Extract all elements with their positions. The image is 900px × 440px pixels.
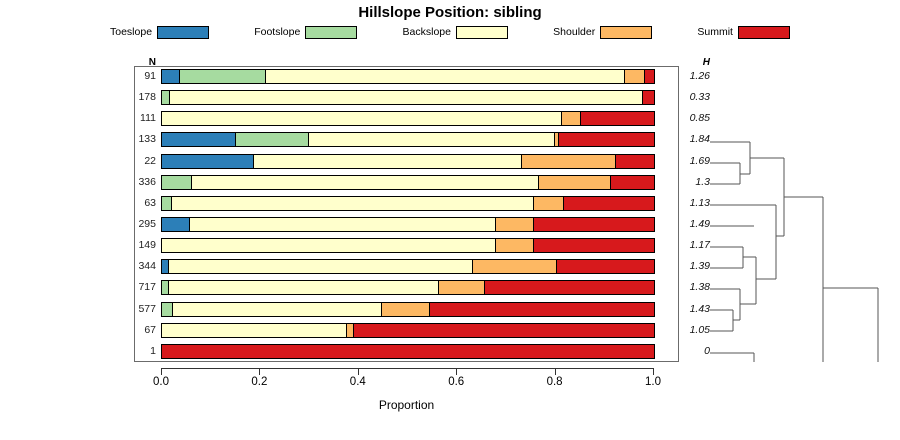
n-value: 577 (108, 299, 156, 320)
bar-segment-shoulder (521, 155, 614, 168)
n-value: 22 (108, 151, 156, 172)
x-tick (161, 368, 162, 375)
bar-row: FIVEBIT1110.85 (134, 108, 679, 129)
bar-segment-toeslope (162, 133, 235, 146)
x-axis-title: Proportion (134, 398, 679, 412)
bar-segment-backslope (168, 260, 472, 273)
legend-swatch-summit (738, 26, 790, 39)
bar-segment-footslope (162, 197, 171, 210)
bar-segment-toeslope (162, 218, 189, 231)
bar-segment-summit (353, 324, 654, 337)
legend-swatch-shoulder (600, 26, 652, 39)
bar-row: MELHORN911.26NH (134, 66, 679, 87)
bar-segment-backslope (253, 155, 521, 168)
bar-segment-summit (610, 176, 654, 189)
bar-row: PARSNIP671.05 (134, 320, 679, 341)
stacked-bar (161, 132, 655, 147)
bar-segment-summit (533, 218, 654, 231)
bar-rows-container: MELHORN911.26NHKLICKSON1780.33FIVEBIT111… (134, 66, 679, 362)
bar-segment-shoulder (346, 324, 353, 337)
x-tick (456, 368, 457, 375)
stacked-bar (161, 302, 655, 317)
bar-segment-summit (533, 239, 654, 252)
bar-segment-summit (556, 260, 654, 273)
legend-item-summit: Summit (697, 26, 790, 39)
x-tick (653, 368, 654, 375)
n-column-header: N (108, 57, 156, 68)
bar-segment-backslope (308, 133, 554, 146)
legend-swatch-backslope (456, 26, 508, 39)
stacked-bar (161, 154, 655, 169)
n-value: 717 (108, 277, 156, 298)
bar-segment-footslope (162, 176, 191, 189)
legend-swatch-toeslope (157, 26, 209, 39)
n-value: 344 (108, 256, 156, 277)
bar-segment-backslope (169, 91, 641, 104)
bar-segment-footslope (179, 70, 265, 83)
bar-segment-shoulder (495, 239, 533, 252)
bar-segment-footslope (235, 133, 308, 146)
n-value: 178 (108, 87, 156, 108)
x-tick-label: 0.2 (239, 376, 279, 388)
stacked-bar (161, 69, 655, 84)
bar-segment-summit (484, 281, 654, 294)
bar-segment-shoulder (624, 70, 644, 83)
bar-segment-shoulder (533, 197, 563, 210)
legend-item-footslope: Footslope (254, 26, 357, 39)
x-tick-label: 1.0 (633, 376, 673, 388)
legend: Toeslope Footslope Backslope Shoulder Su… (110, 24, 790, 40)
stacked-bar (161, 175, 655, 190)
bar-segment-backslope (172, 303, 381, 316)
n-value: 111 (108, 108, 156, 129)
legend-label-toeslope: Toeslope (110, 26, 152, 38)
bar-segment-shoulder (472, 260, 556, 273)
bar-segment-backslope (191, 176, 539, 189)
bar-segment-footslope (162, 303, 172, 316)
dendrogram (688, 66, 893, 362)
bar-segment-summit (644, 70, 654, 83)
legend-swatch-footslope (305, 26, 357, 39)
bar-row: BOCKER5771.43 (134, 299, 679, 320)
x-tick-label: 0.4 (338, 376, 378, 388)
n-value: 149 (108, 235, 156, 256)
stacked-bar (161, 238, 655, 253)
legend-label-shoulder: Shoulder (553, 26, 595, 38)
legend-item-toeslope: Toeslope (110, 26, 209, 39)
n-value: 67 (108, 320, 156, 341)
legend-label-footslope: Footslope (254, 26, 300, 38)
bar-segment-backslope (162, 324, 346, 337)
bar-segment-toeslope (162, 155, 253, 168)
dendrogram-svg (688, 66, 893, 362)
bar-segment-summit (558, 133, 654, 146)
bar-segment-shoulder (538, 176, 609, 189)
bar-segment-backslope (168, 281, 437, 294)
x-tick-label: 0.6 (436, 376, 476, 388)
x-tick-label: 0.0 (141, 376, 181, 388)
stacked-bar (161, 323, 655, 338)
bar-segment-summit (642, 91, 654, 104)
n-value: 295 (108, 214, 156, 235)
bar-segment-shoulder (495, 218, 533, 231)
bar-row: FIVEBEAVER3441.39 (134, 256, 679, 277)
bar-segment-backslope (171, 197, 534, 210)
stacked-bar (161, 196, 655, 211)
stacked-bar (161, 280, 655, 295)
bar-segment-summit (429, 303, 654, 316)
bar-row: NIBOLOB221.69 (134, 151, 679, 172)
x-tick-label: 0.8 (535, 376, 575, 388)
bar-segment-shoulder (381, 303, 429, 316)
bar-segment-summit (615, 155, 654, 168)
x-tick (555, 368, 556, 375)
x-tick (358, 368, 359, 375)
n-value: 1 (108, 341, 156, 362)
bar-segment-backslope (265, 70, 624, 83)
stacked-bar (161, 90, 655, 105)
bar-segment-backslope (162, 239, 495, 252)
bar-row: BOLOBIN631.13 (134, 193, 679, 214)
bar-segment-shoulder (561, 112, 581, 125)
x-axis-line (161, 368, 653, 369)
n-value: 336 (108, 172, 156, 193)
bar-segment-footslope (162, 91, 169, 104)
bar-row: TOLO1331.84 (134, 129, 679, 150)
bar-segment-summit (563, 197, 654, 210)
bar-row: KLICKER3361.3 (134, 172, 679, 193)
bar-row: KLICKSON1780.33 (134, 87, 679, 108)
stacked-bar (161, 217, 655, 232)
bar-segment-summit (162, 345, 654, 358)
bar-segment-toeslope (162, 70, 179, 83)
stacked-bar (161, 259, 655, 274)
bar-segment-backslope (162, 112, 561, 125)
stacked-bar (161, 111, 655, 126)
x-axis: 0.00.20.40.60.81.0 (134, 362, 679, 402)
bar-segment-summit (580, 112, 654, 125)
bar-segment-backslope (189, 218, 495, 231)
legend-label-backslope: Backslope (403, 26, 451, 38)
bar-row: OLOT1491.17 (134, 235, 679, 256)
bar-segment-shoulder (438, 281, 485, 294)
legend-label-summit: Summit (697, 26, 733, 38)
legend-item-backslope: Backslope (403, 26, 508, 39)
bar-row: ANATONE7171.38 (134, 277, 679, 298)
x-tick (259, 368, 260, 375)
bar-row: LARABEE2951.49 (134, 214, 679, 235)
n-value: 91 (108, 66, 156, 87)
bar-row: TOVAME10 (134, 341, 679, 362)
legend-item-shoulder: Shoulder (553, 26, 652, 39)
n-value: 133 (108, 129, 156, 150)
stacked-bar (161, 344, 655, 359)
n-value: 63 (108, 193, 156, 214)
chart-title: Hillslope Position: sibling (0, 4, 900, 21)
